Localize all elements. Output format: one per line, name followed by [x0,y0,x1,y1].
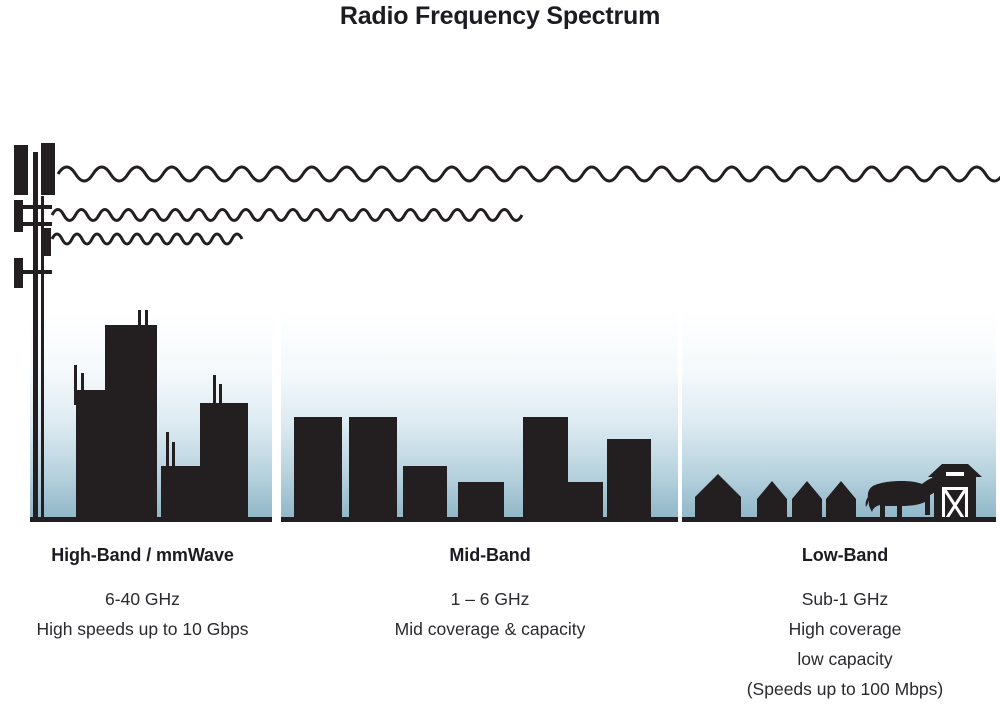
building-spire [172,442,175,466]
band-detail-line: low capacity [690,644,1000,674]
band-title-low-band: Low-Band [690,545,1000,565]
band-detail-line: 1 – 6 GHz [335,584,645,614]
building-spire [166,432,169,466]
infographic-canvas: Radio Frequency Spectrum [0,0,1000,700]
band-detail-line: 6-40 GHz [0,584,285,614]
band-detail-line: High coverage [690,614,1000,644]
band-title-mid-band: Mid-Band [335,545,645,565]
city-building [200,403,248,521]
wave-mid-frequency [52,210,522,221]
band-detail-line: Sub-1 GHz [690,584,1000,614]
barn-hayloft-window [946,472,964,476]
midband-building [568,482,603,521]
midband-building [523,417,568,521]
tower-antenna-panel-right [41,143,55,195]
midband-building [403,466,447,521]
city-building [161,466,206,521]
city-building [105,325,157,521]
tower-crossarm [19,270,52,274]
ground-line-mid-band [281,517,678,522]
band-labels: High-Band / mmWave 6-40 GHz High speeds … [0,545,1000,700]
wave-low-frequency [58,167,1000,181]
midband-building [349,417,397,521]
band-detail-line: High speeds up to 10 Gbps [0,614,285,644]
midband-building [458,482,504,521]
midband-building [294,417,342,521]
band-column-mid-band: Mid-Band 1 – 6 GHz Mid coverage & capaci… [335,545,645,644]
building-spire [213,375,216,405]
wave-high-frequency [52,234,242,244]
tower-crossarm [19,222,52,226]
band-detail-line: Mid coverage & capacity [335,614,645,644]
band-title-high-band: High-Band / mmWave [0,545,285,565]
band-column-low-band: Low-Band Sub-1 GHz High coverage low cap… [690,545,1000,704]
building-spire [145,304,148,328]
building-spire [219,384,222,405]
band-column-high-band: High-Band / mmWave 6-40 GHz High speeds … [0,545,285,644]
tower-crossarm [19,205,52,209]
tower-antenna-panel-left [14,145,28,195]
tower-antenna-small [42,228,51,256]
tower-antenna-small [14,200,23,232]
ground-line-low-band [682,517,996,522]
building-spire [138,295,141,328]
ground-line-high-band [30,517,272,522]
midband-building [607,439,651,521]
